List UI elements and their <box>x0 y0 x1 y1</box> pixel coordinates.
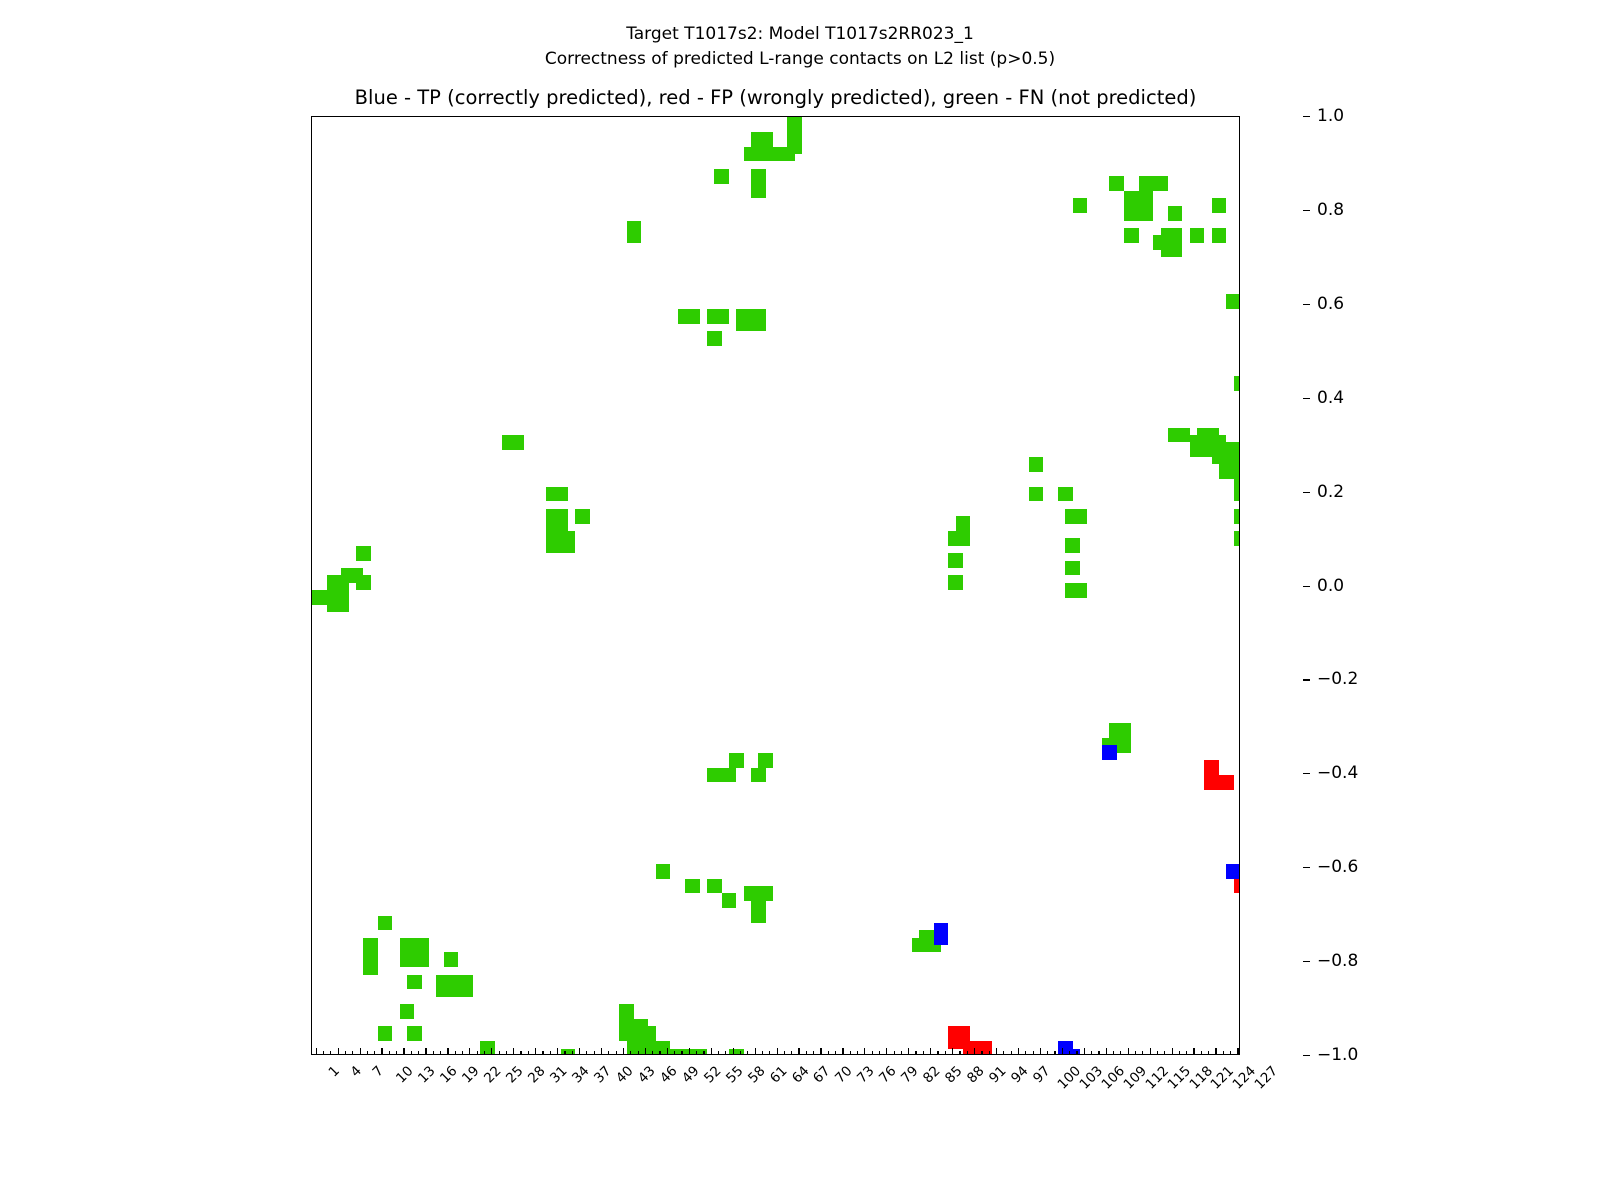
colorbar-tick-label: 1.0 <box>1317 106 1344 126</box>
x-tick-label: 16 <box>437 1063 460 1086</box>
x-axis-labels: 1471013161922252831343740434649525558616… <box>311 1063 1240 1123</box>
colorbar-tick <box>1303 304 1310 305</box>
x-tick-label: 34 <box>569 1063 592 1086</box>
x-tick-label: 46 <box>657 1063 680 1086</box>
x-tick-label: 94 <box>1008 1063 1031 1086</box>
colorbar-tick-label: 0.4 <box>1317 388 1344 408</box>
colorbar-tick <box>1303 961 1310 962</box>
colorbar-tick-label: −0.6 <box>1317 857 1358 877</box>
colorbar-tick-label: −0.2 <box>1317 669 1358 689</box>
colorbar-tick-label: −0.8 <box>1317 951 1358 971</box>
x-tick-label: 43 <box>635 1063 658 1086</box>
x-tick-label: 13 <box>415 1063 438 1086</box>
x-tick-label: 22 <box>481 1063 504 1086</box>
x-tick-label: 55 <box>723 1063 746 1086</box>
colorbar-tick-label: −1.0 <box>1317 1045 1358 1065</box>
x-tick-label: 73 <box>854 1063 877 1086</box>
x-tick-label: 61 <box>767 1063 790 1086</box>
x-tick-label: 4 <box>347 1063 364 1080</box>
colorbar-tick-label: −0.4 <box>1317 763 1358 783</box>
x-tick-label: 7 <box>369 1063 386 1080</box>
x-tick-label: 10 <box>394 1063 417 1086</box>
colorbar-tick-label: 0.0 <box>1317 576 1344 596</box>
x-tick-label: 67 <box>810 1063 833 1086</box>
colorbar-tick <box>1303 492 1310 493</box>
colorbar-tick-label: 0.8 <box>1317 200 1344 220</box>
colorbar-tick <box>1303 773 1310 774</box>
figure-canvas: Target T1017s2: Model T1017s2RR023_1 Cor… <box>0 0 1600 1200</box>
x-tick-label: 127 <box>1252 1063 1282 1093</box>
colorbar-tick <box>1303 210 1310 211</box>
x-tick-label: 91 <box>986 1063 1009 1086</box>
x-tick-label: 28 <box>525 1063 548 1086</box>
colorbar-tick <box>1303 398 1310 399</box>
x-tick-label: 97 <box>1030 1063 1053 1086</box>
colorbar-tick-label: 0.6 <box>1317 294 1344 314</box>
x-tick-label: 85 <box>942 1063 965 1086</box>
x-tick-label: 76 <box>876 1063 899 1086</box>
x-tick-label: 70 <box>832 1063 855 1086</box>
x-tick-label: 25 <box>503 1063 526 1086</box>
x-tick-label: 31 <box>547 1063 570 1086</box>
colorbar-tick <box>1303 116 1310 117</box>
x-tick-label: 52 <box>701 1063 724 1086</box>
colorbar-tick <box>1303 1055 1310 1056</box>
x-tick-label: 79 <box>898 1063 921 1086</box>
colorbar-tick <box>1303 679 1310 680</box>
x-tick-label: 40 <box>613 1063 636 1086</box>
colorbar-tick <box>1303 867 1310 868</box>
x-tick-label: 19 <box>459 1063 482 1086</box>
colorbar-tick <box>1303 586 1310 587</box>
x-tick-label: 64 <box>789 1063 812 1086</box>
x-tick-label: 58 <box>745 1063 768 1086</box>
x-tick-label: 37 <box>591 1063 614 1086</box>
axes-title: Blue - TP (correctly predicted), red - F… <box>311 86 1240 109</box>
x-tick-label: 49 <box>679 1063 702 1086</box>
x-tick-label: 1 <box>325 1063 342 1080</box>
colorbar-tick-label: 0.2 <box>1317 482 1344 502</box>
x-tick-label: 82 <box>920 1063 943 1086</box>
figure-suptitle: Target T1017s2: Model T1017s2RR023_1 Cor… <box>0 22 1600 72</box>
colorbar-group: 1.00.80.60.40.20.0−0.2−0.4−0.6−0.8−1.0 <box>1259 116 1559 1055</box>
x-tick-label: 88 <box>964 1063 987 1086</box>
